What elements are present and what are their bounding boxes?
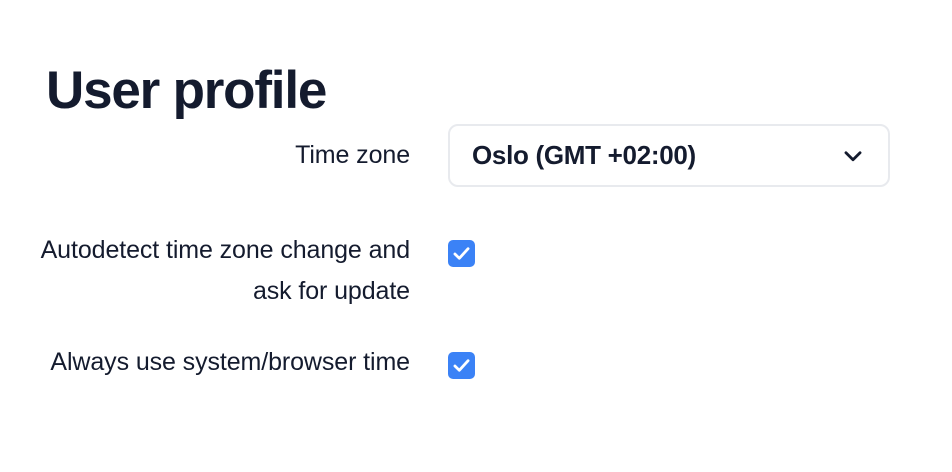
system-time-checkbox[interactable]: [448, 352, 475, 379]
autodetect-label: Autodetect time zone change and ask for …: [0, 230, 410, 312]
timezone-select-value: Oslo (GMT +02:00): [472, 140, 696, 171]
timezone-label: Time zone: [0, 124, 410, 187]
autodetect-checkbox[interactable]: [448, 240, 475, 267]
timezone-select[interactable]: Oslo (GMT +02:00): [448, 124, 890, 187]
page-title: User profile: [46, 62, 326, 120]
checkmark-icon: [451, 355, 472, 376]
autodetect-control: [410, 230, 952, 267]
form-row-system-time: Always use system/browser time: [0, 342, 952, 383]
system-time-label: Always use system/browser time: [0, 342, 410, 383]
user-profile-page: User profile Time zone Oslo (GMT +02:00)…: [0, 0, 952, 472]
form-row-timezone: Time zone Oslo (GMT +02:00): [0, 124, 952, 224]
form-row-autodetect: Autodetect time zone change and ask for …: [0, 230, 952, 340]
checkmark-icon: [451, 243, 472, 264]
timezone-control: Oslo (GMT +02:00): [410, 124, 952, 187]
system-time-control: [410, 342, 952, 379]
user-profile-form: Time zone Oslo (GMT +02:00) Autodetect t…: [0, 124, 952, 383]
chevron-down-icon: [840, 143, 866, 169]
